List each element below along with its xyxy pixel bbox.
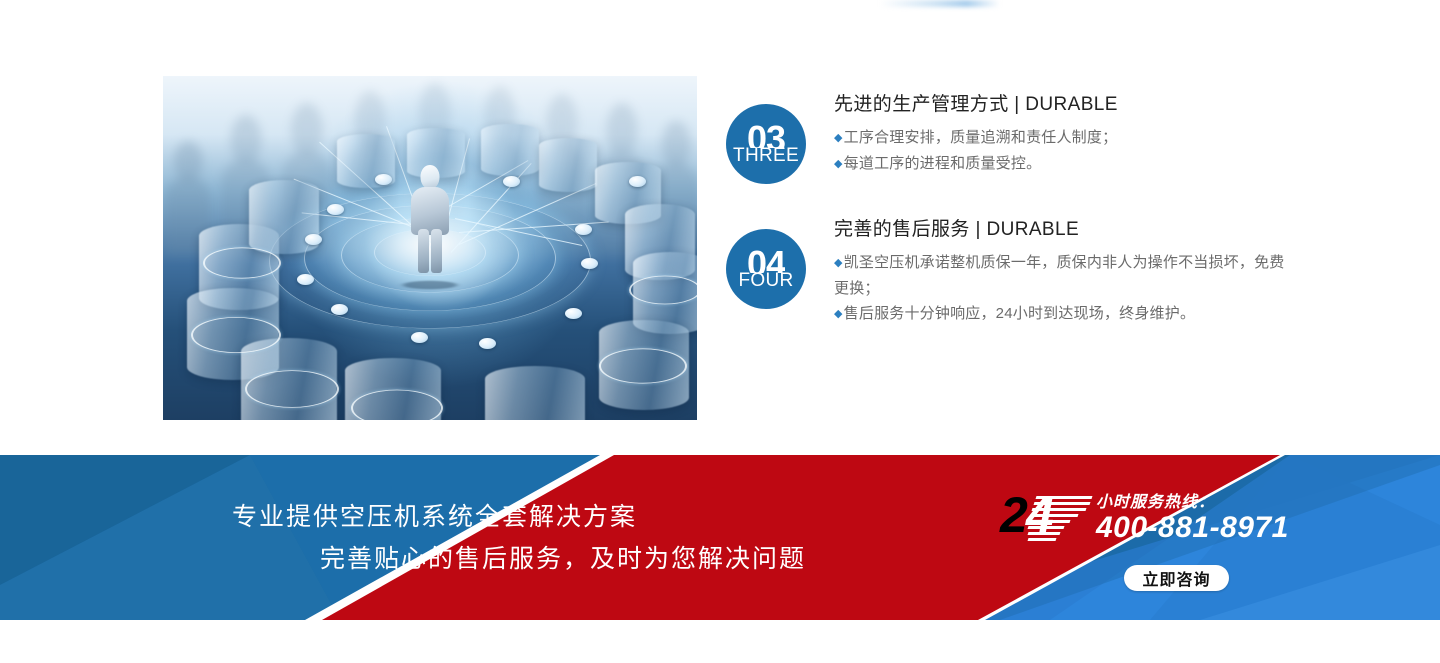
hotline-block: 24 小时服务热线： 400-881-8971 xyxy=(1000,480,1300,570)
diamond-bullet-icon: ◆ xyxy=(834,308,843,320)
person-head xyxy=(421,165,440,189)
feature-list: 03 THREE 先进的生产管理方式 | DURABLE ◆工序合理安排，质量追… xyxy=(726,92,1286,367)
top-cutoff-sliver xyxy=(880,0,1000,7)
feature-bullet: ◆凯圣空压机承诺整机质保一年，质保内非人为操作不当损坏，免费更换； xyxy=(834,250,1286,301)
network-node xyxy=(503,176,520,187)
feature-badge-03: 03 THREE xyxy=(726,104,806,184)
ring-shape xyxy=(351,390,443,420)
person-figure-icon xyxy=(410,165,450,273)
network-node xyxy=(575,224,592,235)
hotline-label: 小时服务热线： xyxy=(1096,488,1215,512)
hotline-number: 400-881-8971 xyxy=(1096,511,1289,545)
cylinder-shape xyxy=(539,138,597,192)
feature-bullet-text: 每道工序的进程和质量受控。 xyxy=(844,155,1042,172)
diamond-bullet-icon: ◆ xyxy=(834,158,843,170)
ring-shape xyxy=(629,276,697,305)
feature-text-04: 完善的售后服务 | DURABLE ◆凯圣空压机承诺整机质保一年，质保内非人为操… xyxy=(834,217,1286,327)
network-node xyxy=(305,234,322,245)
ring-shape xyxy=(599,348,687,383)
feature-title: 先进的生产管理方式 | DURABLE xyxy=(834,92,1286,118)
feature-number-word: THREE xyxy=(733,146,799,165)
feature-bullet-text: 售后服务十分钟响应，24小时到达现场，终身维护。 xyxy=(844,305,1196,322)
network-node xyxy=(297,274,314,285)
slogan-line-2: 完善贴心的售后服务，及时为您解决问题 xyxy=(320,538,940,580)
network-node xyxy=(375,174,392,185)
feature-bullet: ◆售后服务十分钟响应，24小时到达现场，终身维护。 xyxy=(834,301,1286,327)
network-node xyxy=(565,308,582,319)
feature-text-03: 先进的生产管理方式 | DURABLE ◆工序合理安排，质量追溯和责任人制度； … xyxy=(834,92,1286,177)
feature-bullet-text: 凯圣空压机承诺整机质保一年，质保内非人为操作不当损坏，免费更换； xyxy=(834,254,1284,297)
network-concept-image xyxy=(163,76,697,420)
feature-item-04: 04 FOUR 完善的售后服务 | DURABLE ◆凯圣空压机承诺整机质保一年… xyxy=(726,217,1286,327)
ring-shape xyxy=(191,317,281,353)
cylinder-shape xyxy=(481,124,539,176)
banner-slogan: 专业提供空压机系统全套解决方案 完善贴心的售后服务，及时为您解决问题 xyxy=(0,455,940,620)
network-node xyxy=(331,304,348,315)
cylinder-shape xyxy=(485,366,585,420)
person-leg-right xyxy=(431,229,442,273)
network-node xyxy=(479,338,496,349)
digit-two: 2 xyxy=(1000,487,1026,543)
network-node xyxy=(327,204,344,215)
diamond-bullet-icon: ◆ xyxy=(834,257,843,269)
consult-now-button[interactable]: 立即咨询 xyxy=(1124,565,1229,591)
feature-bullet-text: 工序合理安排，质量追溯和责任人制度； xyxy=(844,129,1118,146)
slogan-line-1: 专业提供空压机系统全套解决方案 xyxy=(232,496,940,538)
page-root: 03 THREE 先进的生产管理方式 | DURABLE ◆工序合理安排，质量追… xyxy=(0,0,1440,663)
feature-badge-04: 04 FOUR xyxy=(726,229,806,309)
network-node xyxy=(411,332,428,343)
feature-number-word: FOUR xyxy=(738,271,793,290)
person-body xyxy=(411,187,449,235)
ring-shape xyxy=(245,370,339,408)
feature-title: 完善的售后服务 | DURABLE xyxy=(834,217,1286,243)
feature-item-03: 03 THREE 先进的生产管理方式 | DURABLE ◆工序合理安排，质量追… xyxy=(726,92,1286,177)
feature-bullet: ◆工序合理安排，质量追溯和责任人制度； xyxy=(834,125,1286,151)
speed-streaks-icon xyxy=(1032,494,1094,546)
feature-bullet: ◆每道工序的进程和质量受控。 xyxy=(834,151,1286,177)
network-node xyxy=(629,176,646,187)
person-leg-left xyxy=(418,229,429,273)
network-node xyxy=(581,258,598,269)
diamond-bullet-icon: ◆ xyxy=(834,132,843,144)
ring-shape xyxy=(203,247,281,278)
